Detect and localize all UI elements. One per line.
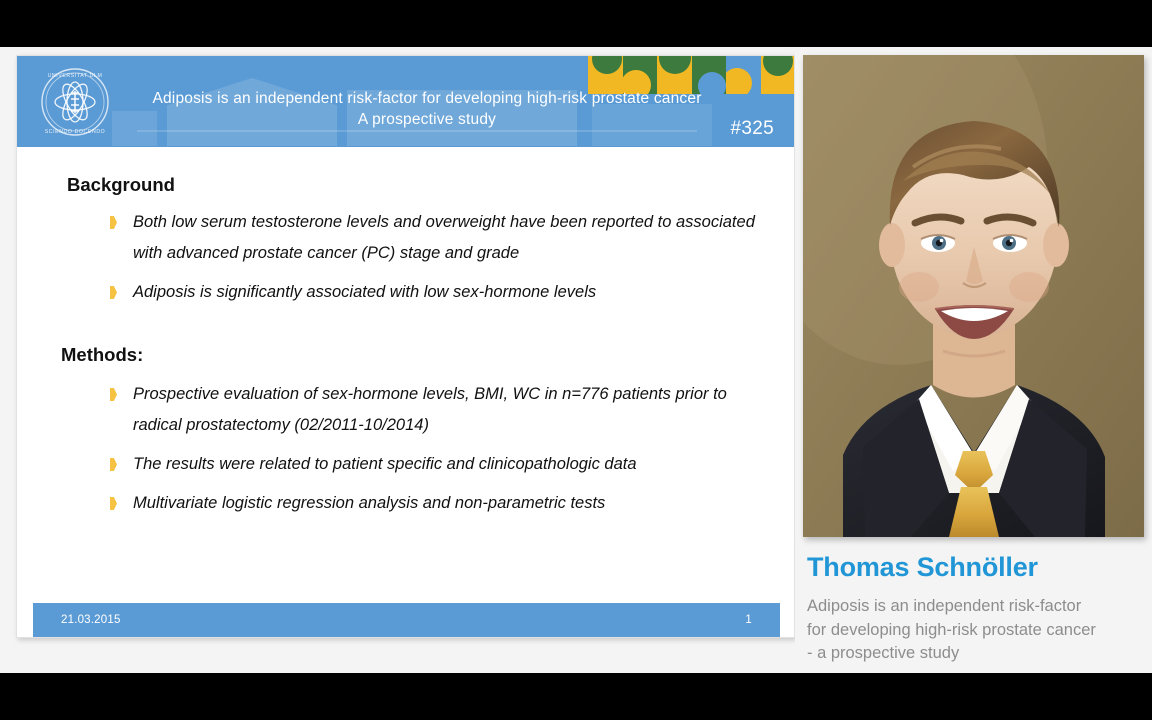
section-heading-methods-text: Methods — [61, 344, 137, 365]
slide-title-line-1: Adiposis is an independent risk-factor f… — [127, 88, 727, 109]
speaker-name: Thomas Schnöller — [807, 552, 1147, 583]
bullet-arrow-icon — [110, 286, 117, 299]
bullet-arrow-icon — [110, 388, 117, 401]
bullet-text: Adiposis is significantly associated wit… — [133, 283, 596, 301]
bullet-item: Adiposis is significantly associated wit… — [105, 277, 775, 308]
speaker-portrait-photo — [803, 55, 1144, 537]
slide-page-number: 1 — [745, 614, 752, 626]
slide-title-line-2: A prospective study — [127, 109, 727, 130]
viewer-stage: UNIVERSITAT ULM SCIENDO DOCENDO — [0, 47, 1152, 673]
bullet-list-background: Both low serum testosterone levels and o… — [105, 207, 775, 316]
bullet-item: Multivariate logistic regression analysi… — [105, 488, 775, 519]
bullet-item: The results were related to patient spec… — [105, 449, 775, 480]
section-heading-background: Background — [67, 174, 175, 196]
abstract-number: #325 — [731, 118, 774, 140]
bullet-text: The results were related to patient spec… — [133, 455, 637, 473]
slide-footer-date: 21.03.2015 — [61, 614, 121, 626]
letterbox-bottom — [0, 673, 1152, 720]
bullet-text: Multivariate logistic regression analysi… — [133, 494, 605, 512]
svg-text:UNIVERSITAT ULM: UNIVERSITAT ULM — [48, 73, 103, 79]
speaker-desc-line-3: - a prospective study — [807, 642, 1143, 666]
section-heading-methods: Methods: — [61, 344, 143, 366]
speaker-desc-line-2: for developing high-risk prostate cancer — [807, 619, 1143, 643]
bullet-arrow-icon — [110, 216, 117, 229]
section-heading-methods-colon: : — [137, 344, 143, 365]
svg-text:SCIENDO DOCENDO: SCIENDO DOCENDO — [45, 129, 106, 135]
slide-body: Background Both low serum testosterone l… — [17, 147, 795, 607]
speaker-desc-line-1: Adiposis is an independent risk-factor — [807, 595, 1143, 619]
section-heading-background-text: Background — [67, 174, 175, 195]
bullet-text: Prospective evaluation of sex-hormone le… — [133, 385, 727, 434]
slide-title: Adiposis is an independent risk-factor f… — [127, 88, 727, 130]
slide-canvas[interactable]: UNIVERSITAT ULM SCIENDO DOCENDO — [16, 55, 795, 638]
header-watermark-line — [137, 130, 697, 132]
slide-header-band: UNIVERSITAT ULM SCIENDO DOCENDO — [17, 56, 795, 147]
letterbox-top — [0, 0, 1152, 47]
bullet-list-methods: Prospective evaluation of sex-hormone le… — [105, 379, 775, 527]
speaker-talk-description: Adiposis is an independent risk-factor f… — [807, 595, 1143, 666]
bullet-text: Both low serum testosterone levels and o… — [133, 213, 755, 262]
bullet-arrow-icon — [110, 497, 117, 510]
slide-footer-bar: 21.03.2015 1 — [33, 603, 780, 637]
ulm-university-seal-icon: UNIVERSITAT ULM SCIENDO DOCENDO — [39, 66, 111, 138]
speaker-panel: Thomas Schnöller Adiposis is an independ… — [795, 47, 1152, 673]
presentation-viewer: UNIVERSITAT ULM SCIENDO DOCENDO — [0, 0, 1152, 720]
bullet-arrow-icon — [110, 458, 117, 471]
bullet-item: Prospective evaluation of sex-hormone le… — [105, 379, 775, 441]
bullet-item: Both low serum testosterone levels and o… — [105, 207, 775, 269]
